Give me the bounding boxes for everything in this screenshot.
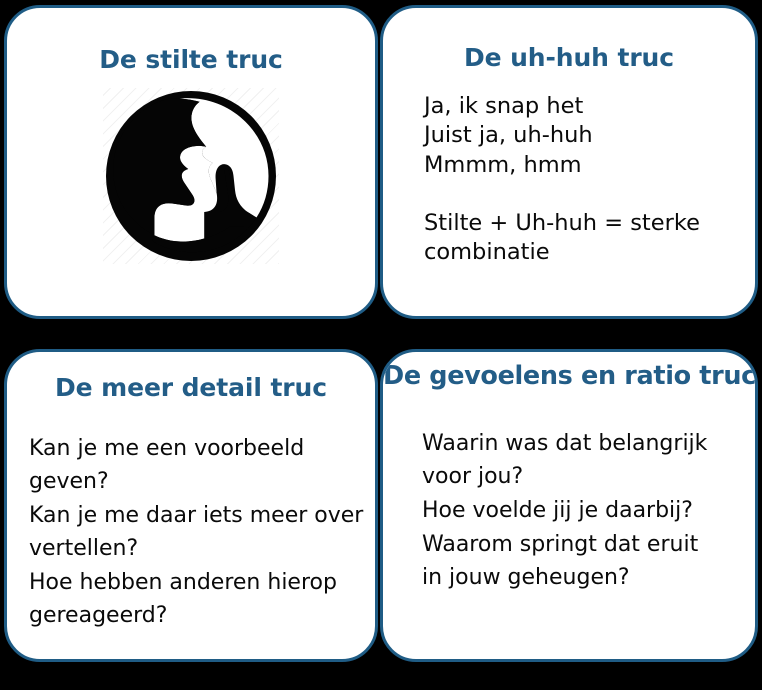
card-title-stilte: De stilte truc [7,46,375,74]
card-grid: De stilte truc De uh-huh truc Ja, ik sna… [0,0,762,690]
card-body-gevoelens-ratio: Waarin was dat belangrijk voor jou? Hoe … [422,427,755,595]
card-uh-huh-truc[interactable]: De uh-huh truc Ja, ik snap het Juist ja,… [380,5,758,319]
card-gevoelens-ratio-truc[interactable]: De gevoelens en ratio truc Waarin was da… [380,349,758,662]
card-title-meer-detail: De meer detail truc [7,374,375,402]
card-meer-detail-truc[interactable]: De meer detail truc Kan je me een voorbe… [4,349,378,662]
card-body-uh-huh: Ja, ik snap het Juist ja, uh-huh Mmmm, h… [424,92,755,268]
shh-silence-icon [103,88,279,264]
card-title-uh-huh: De uh-huh truc [383,44,755,72]
card-body-meer-detail: Kan je me een voorbeeld geven? Kan je me… [29,432,375,633]
card-title-gevoelens-ratio: De gevoelens en ratio truc [383,362,755,391]
card-stilte-truc[interactable]: De stilte truc [4,5,378,319]
